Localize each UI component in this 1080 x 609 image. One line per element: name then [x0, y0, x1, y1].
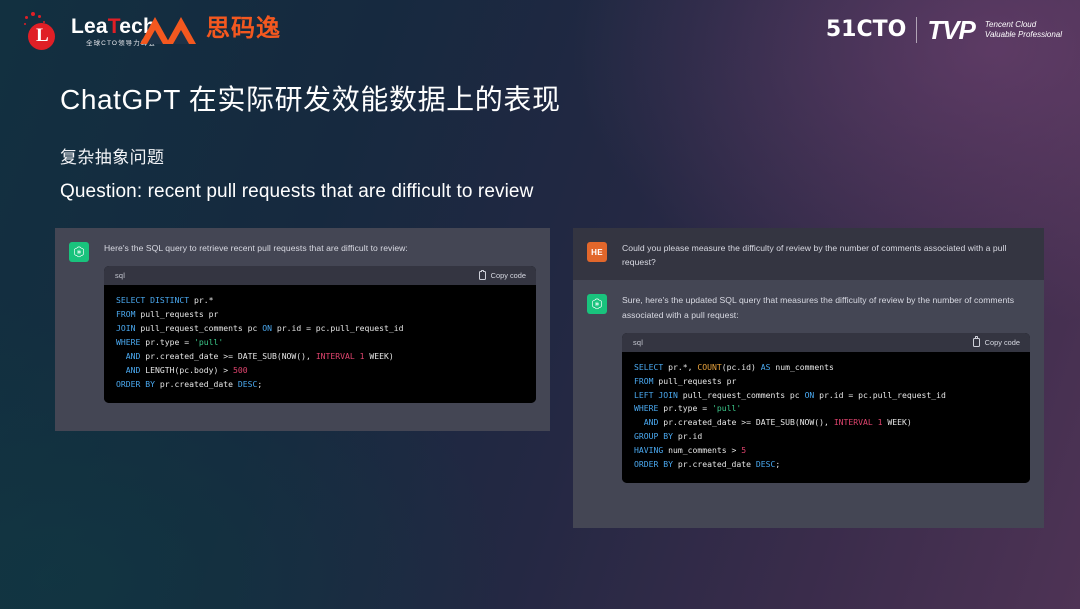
code-language-label: sql — [633, 338, 643, 347]
subtitle-question: Question: recent pull requests that are … — [60, 181, 533, 203]
leatech-l-glyph: L — [36, 26, 49, 45]
assistant-message: Sure, here's the updated SQL query that … — [573, 280, 1044, 494]
tvp-tagline: Tencent Cloud Valuable Professional — [985, 20, 1062, 41]
copy-code-button[interactable]: Copy code — [479, 271, 526, 280]
code-block: sql Copy code SELECT pr.*, COUNT(pc.id) … — [622, 333, 1030, 483]
leatech-mark-icon: L — [22, 12, 62, 52]
simaiyi-logo: 思码逸 — [140, 14, 281, 44]
user-message: HE Could you please measure the difficul… — [573, 228, 1044, 280]
code-block-header: sql Copy code — [622, 333, 1030, 352]
simaiyi-mountain-icon — [140, 14, 196, 44]
51cto-wordmark: 51CTO — [826, 19, 906, 41]
clipboard-icon — [973, 338, 980, 347]
code-content: SELECT pr.*, COUNT(pc.id) AS num_comment… — [622, 352, 1030, 483]
copy-code-label: Copy code — [491, 271, 526, 280]
clipboard-icon — [479, 271, 486, 280]
copy-code-label: Copy code — [985, 338, 1020, 347]
page-title: ChatGPT 在实际研发效能数据上的表现 — [60, 78, 561, 118]
logo-divider — [916, 17, 917, 43]
subtitle-chinese: 复杂抽象问题 — [60, 143, 164, 168]
chat-panel-left: Here's the SQL query to retrieve recent … — [55, 228, 550, 431]
code-block: sql Copy code SELECT DISTINCT pr.* FROM … — [104, 266, 536, 402]
simaiyi-wordmark: 思码逸 — [206, 17, 281, 41]
partner-logos: 51CTO TVP Tencent Cloud Valuable Profess… — [826, 17, 1062, 43]
slide-root: L LeaTech 全球CTO领导力峰会 思码逸 51CTO TVP Tence… — [0, 0, 1080, 609]
user-avatar: HE — [587, 242, 607, 262]
code-block-header: sql Copy code — [104, 266, 536, 285]
tvp-wordmark: TVP — [927, 17, 975, 43]
chatgpt-avatar-icon — [587, 294, 607, 314]
assistant-message-text: Sure, here's the updated SQL query that … — [622, 293, 1030, 321]
chat-panel-right: HE Could you please measure the difficul… — [573, 228, 1044, 528]
copy-code-button[interactable]: Copy code — [973, 338, 1020, 347]
assistant-message: Here's the SQL query to retrieve recent … — [55, 228, 550, 414]
chatgpt-avatar-icon — [69, 242, 89, 262]
code-language-label: sql — [115, 271, 125, 280]
user-message-text: Could you please measure the difficulty … — [622, 241, 1030, 269]
code-content: SELECT DISTINCT pr.* FROM pull_requests … — [104, 285, 536, 402]
assistant-message-text: Here's the SQL query to retrieve recent … — [104, 241, 536, 255]
slide-header: L LeaTech 全球CTO领导力峰会 思码逸 51CTO TVP Tence… — [0, 0, 1080, 62]
leatech-logo: L LeaTech 全球CTO领导力峰会 — [22, 12, 156, 52]
